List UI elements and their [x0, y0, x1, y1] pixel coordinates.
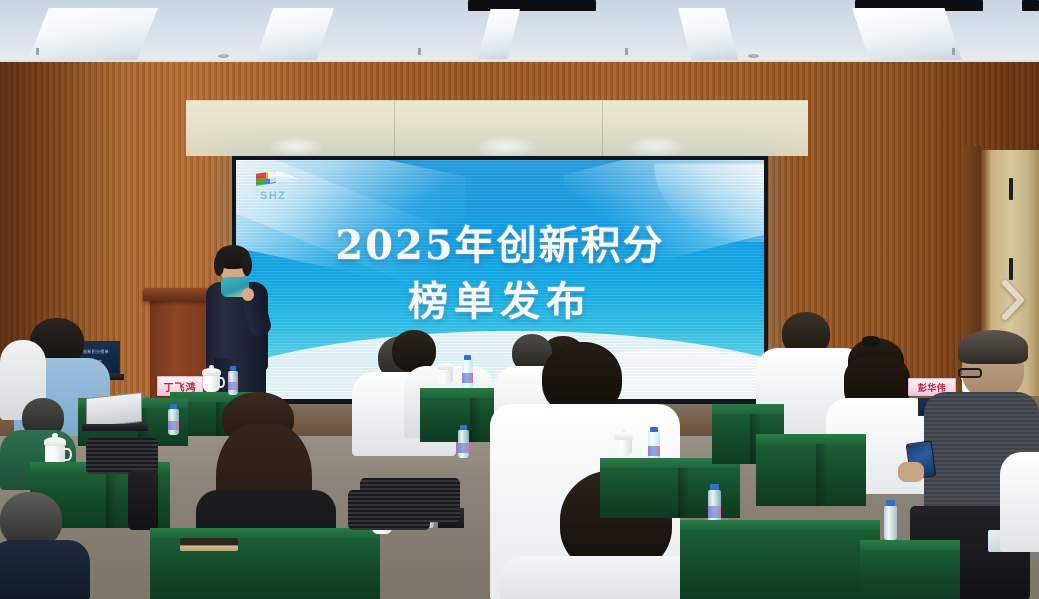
- led-screen-bezel: SHZ 2025年创新积分 榜单发布: [232, 156, 768, 404]
- teacup-lid: [614, 432, 633, 440]
- ceiling-light-panel: [852, 8, 962, 60]
- water-bottle: [884, 506, 897, 540]
- led-screen: SHZ 2025年创新积分 榜单发布: [236, 160, 764, 399]
- conference-table: [860, 540, 960, 599]
- slide-logo-text: SHZ: [260, 190, 287, 202]
- ceiling-speaker: [218, 54, 229, 58]
- door-handle[interactable]: [1009, 178, 1013, 200]
- bottle-label: [708, 506, 721, 518]
- teacup-handle: [63, 448, 72, 461]
- attendee-body: [0, 540, 90, 599]
- ceiling-sprinkler: [625, 48, 628, 55]
- teacup-knob: [209, 365, 214, 369]
- laptop-keyboard-base[interactable]: [82, 424, 148, 431]
- four-color-flag-logo-icon: [254, 168, 300, 190]
- slide-title-line-1: 2025年创新积分: [236, 218, 764, 274]
- chevron-right-icon: [1000, 278, 1026, 322]
- chair-frame[interactable]: [128, 470, 158, 530]
- teacup-handle: [218, 377, 225, 388]
- teacup-lid: [44, 437, 66, 446]
- ceiling-light-panel: [28, 8, 158, 60]
- teacup-lid: [437, 363, 454, 370]
- notebook[interactable]: [180, 538, 238, 551]
- bottle-cap: [650, 427, 658, 432]
- chair-back[interactable]: [86, 438, 158, 474]
- eyeglasses: [958, 368, 982, 378]
- teacup-knob: [52, 433, 58, 438]
- bottle-label: [458, 443, 469, 453]
- slide-logo: SHZ: [254, 168, 310, 212]
- marble-header-panel: [186, 100, 808, 156]
- conference-table: [756, 434, 866, 506]
- bottle-label: [462, 373, 473, 383]
- conference-table: [680, 520, 880, 599]
- carousel-next-button[interactable]: [995, 272, 1031, 328]
- bottle-cap: [886, 500, 895, 506]
- bottle-cap: [464, 355, 471, 360]
- bottle-cap: [230, 366, 236, 371]
- bottle-cap: [710, 484, 719, 490]
- bottle-label: [168, 421, 179, 430]
- ceiling-speaker: [748, 54, 759, 58]
- teacup-lid: [202, 368, 221, 376]
- speaker-hand: [242, 288, 254, 301]
- chair-back[interactable]: [360, 478, 460, 522]
- ceiling-sprinkler: [36, 48, 39, 55]
- speaker-hair-side-left: [214, 254, 224, 276]
- bottle-cap: [460, 425, 467, 430]
- attendee-hand: [898, 462, 924, 482]
- ceiling-black-strip: [1022, 0, 1039, 11]
- slide-title-line-2: 榜单发布: [236, 274, 764, 330]
- attendee-hair: [958, 330, 1028, 364]
- ceiling-sprinkler: [418, 48, 421, 55]
- teacup: [438, 368, 453, 384]
- teacup: [615, 438, 632, 456]
- ceiling-black-strip: [468, 0, 596, 11]
- teacup-knob: [621, 429, 626, 433]
- ceiling-sprinkler: [952, 48, 955, 55]
- hair-clip: [862, 336, 880, 347]
- laptop-screen-line-1: 创新积分榜单: [78, 349, 114, 355]
- bottle-label: [648, 446, 660, 456]
- bottle-cap: [170, 404, 177, 409]
- attendee-body: [1000, 452, 1039, 552]
- laptop-open-lid[interactable]: [86, 392, 142, 428]
- slide-title: 2025年创新积分 榜单发布: [236, 218, 764, 330]
- speaker-hair-side-right: [242, 254, 252, 276]
- bottle-label: [228, 382, 238, 390]
- conference-room-photo: SHZ 2025年创新积分 榜单发布 创新积分榜单 发布会 丁飞鸿: [0, 0, 1039, 599]
